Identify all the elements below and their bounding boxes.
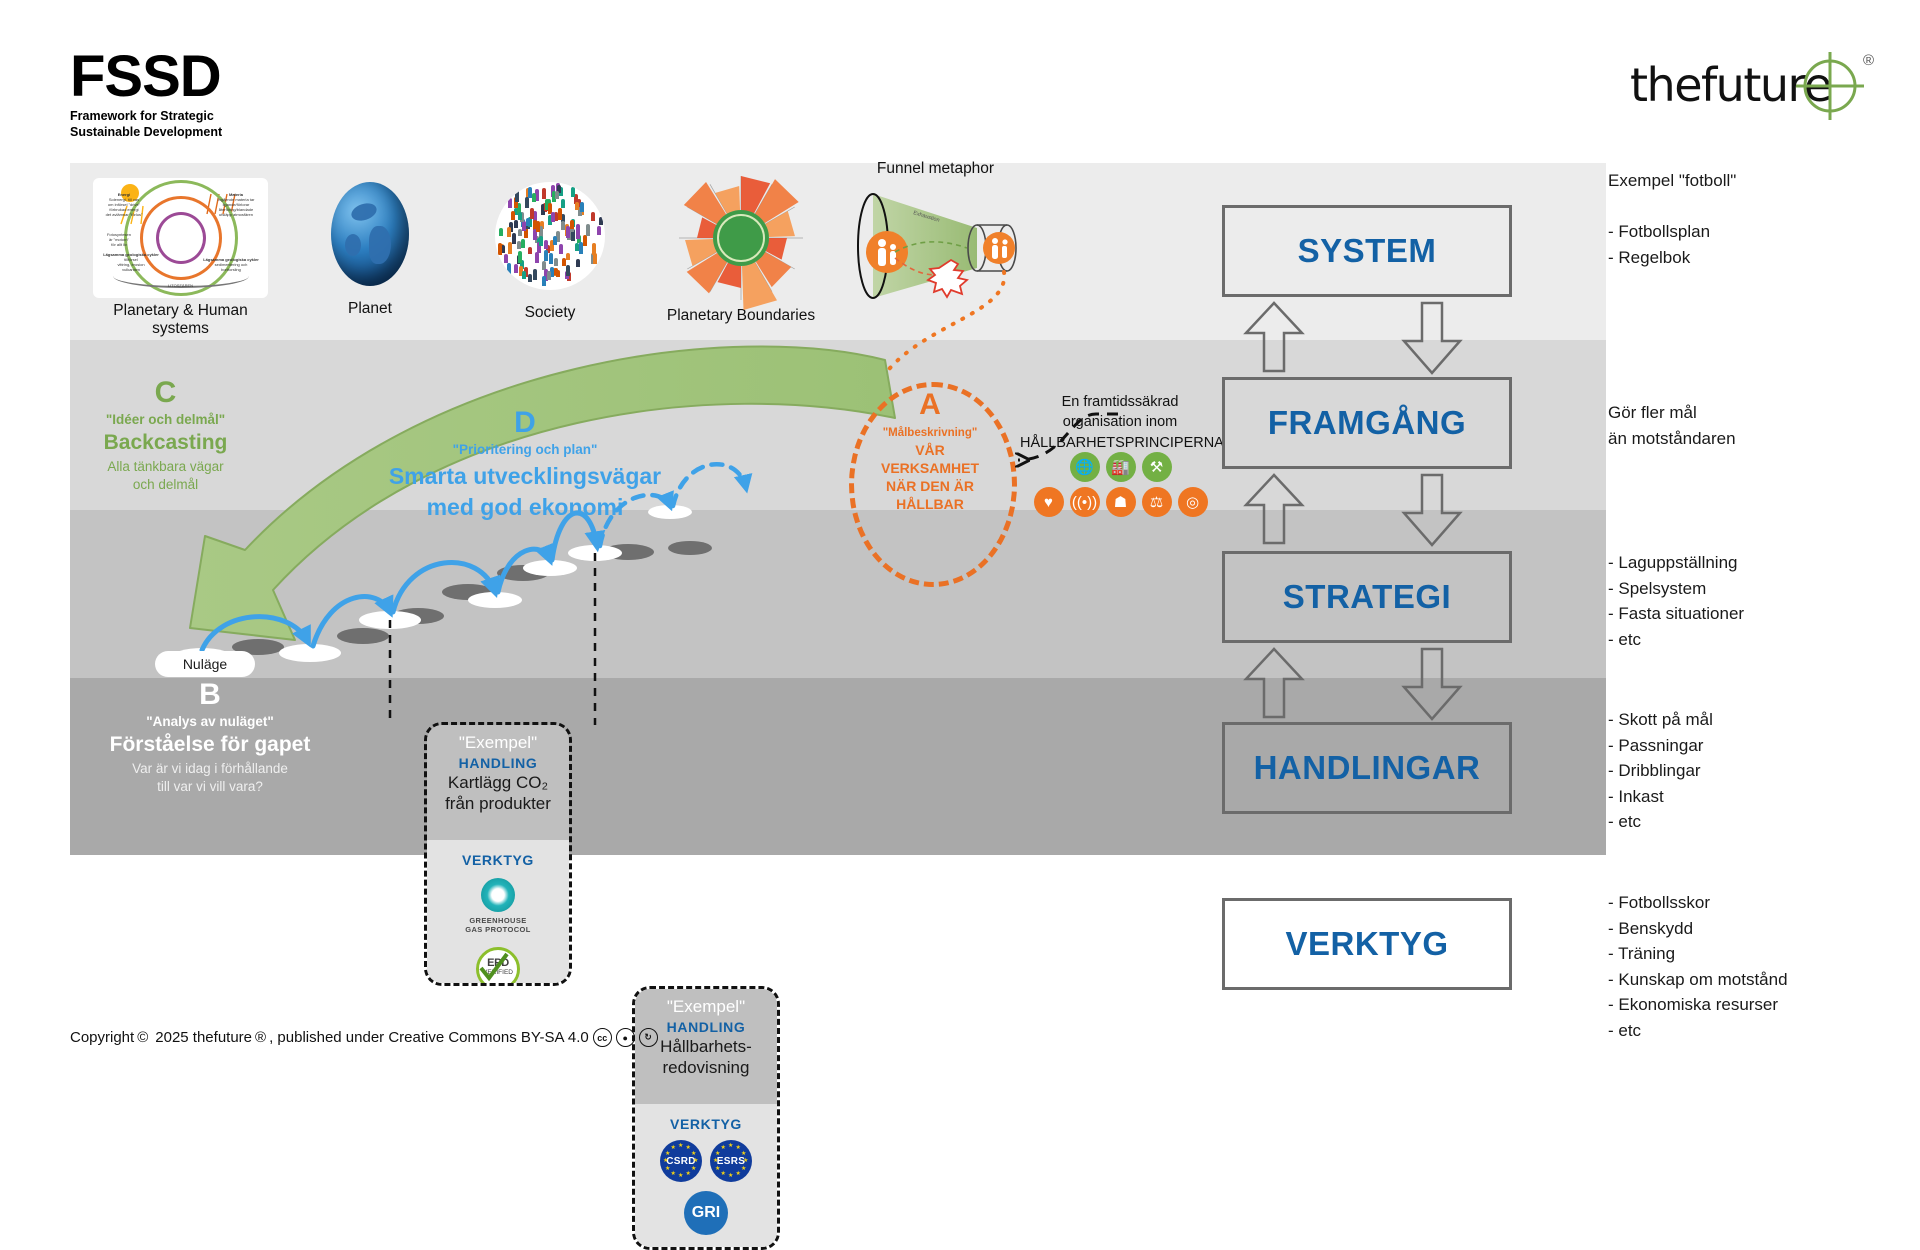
stage-box-framgang[interactable]: FRAMGÅNG <box>1222 377 1512 469</box>
sustainability-principles-icons: 🌐 🏭 ⚒ ♥ ((•)) ☗ ⚖ ◎ <box>1028 452 1213 517</box>
example-label: "Exempel" <box>635 997 777 1017</box>
stage-note-strategi: - Laguppställning - Spelsystem - Fasta s… <box>1608 550 1744 652</box>
stage-box-verktyg[interactable]: VERKTYG <box>1222 898 1512 990</box>
narrative-d: D "Prioritering och plan" Smarta utveckl… <box>375 408 675 523</box>
cc-sa-icon: ↻ <box>639 1028 658 1047</box>
narrative-b-quote: "Analys av nuläget" <box>100 714 320 729</box>
stage-box-handlingar[interactable]: HANDLINGAR <box>1222 722 1512 814</box>
stage-arrows-framgang-strategi <box>1222 471 1512 549</box>
crowd-of-people-icon <box>495 182 605 290</box>
competence-person-icon: ☗ <box>1106 487 1136 517</box>
stage-note-handlingar: - Skott på mål - Passningar - Dribblinga… <box>1608 707 1713 835</box>
planetary-boundaries-rosette <box>671 175 811 301</box>
fssd-subtitle: Framework for Strategic Sustainable Deve… <box>70 109 222 140</box>
cc-by-icon: ● <box>616 1028 635 1047</box>
narrative-b-letter: B <box>100 680 320 710</box>
copyright-owner: 2025 thefuture <box>155 1029 252 1046</box>
narrative-b-head: Förståelse för gapet <box>100 733 320 757</box>
stage-note-system: Exempel "fotboll" - Fotbollsplan - Regel… <box>1608 168 1736 270</box>
thefuture-target-icon <box>1630 50 1880 122</box>
thefuture-logo: thefuture ® <box>1630 50 1880 122</box>
top-item-planetary-human-systems: EnergiSolenergi, till vasom införsel "dr… <box>88 178 273 338</box>
license-text: , published under Creative Commons BY-SA… <box>269 1029 589 1046</box>
stage-label: SYSTEM <box>1298 232 1437 270</box>
tool-label: VERKTYG <box>635 1116 777 1132</box>
top-item-society: Society <box>460 182 640 322</box>
narrative-a-quote: "Målbeskrivning" <box>855 427 1005 439</box>
globe-extraction-icon: 🌐 <box>1070 452 1100 482</box>
example-kind: HANDLING <box>427 755 569 771</box>
arrow-down-icon <box>1404 303 1460 373</box>
copyright-footer: Copyright © 2025 thefuture ® , published… <box>70 1028 658 1047</box>
top-item-caption: Planetary Boundaries <box>636 307 846 325</box>
narrative-a: A "Målbeskrivning" VÅR VERKSAMHET NÄR DE… <box>855 388 1005 514</box>
narrative-c-letter: C <box>58 378 273 408</box>
core-ring <box>156 212 206 264</box>
planetary-human-systems-diagram: EnergiSolenergi, till vasom införsel "dr… <box>93 178 268 298</box>
stage-label: HANDLINGAR <box>1254 749 1481 787</box>
registered-mark: ® <box>1863 52 1874 69</box>
future-proof-note: En framtidssäkrad organisation inom HÅLL… <box>1020 392 1220 453</box>
fssd-title: FSSD <box>70 48 222 106</box>
tool-label: VERKTYG <box>427 852 569 868</box>
top-item-caption: Society <box>460 304 640 322</box>
lithosphere-label: LITOSFÄREN <box>93 283 268 288</box>
narrative-c-sub: Alla tänkbara vägar och delmål <box>58 458 273 493</box>
narrative-b: B "Analys av nuläget" Förståelse för gap… <box>100 680 320 795</box>
arrow-up-icon <box>1246 649 1302 717</box>
csrd-logo: CSRD★★★★★★★★★★★★ <box>660 1140 702 1182</box>
owner-registered-mark: ® <box>255 1029 266 1046</box>
gri-logo: GRI <box>684 1191 728 1235</box>
copyright-symbol: © <box>137 1029 148 1046</box>
narrative-d-quote: "Prioritering och plan" <box>375 442 675 457</box>
narrative-a-lines: VÅR VERKSAMHET NÄR DEN ÄR HÅLLBAR <box>855 442 1005 514</box>
stage-arrows-system-framgang <box>1222 299 1512 377</box>
funnel-title: Funnel metaphor <box>828 160 1043 178</box>
top-item-caption: Planet <box>290 300 450 318</box>
narrative-c: C "Idéer och delmål" Backcasting Alla tä… <box>58 378 273 493</box>
energy-label: EnergiSolenergi, till vasom införsel "dr… <box>101 192 147 217</box>
stage-note-verktyg: - Fotbollsskor - Benskydd - Träning - Ku… <box>1608 890 1788 1043</box>
arrow-down-icon <box>1404 475 1460 545</box>
ghg-caption: GREENHOUSE GAS PROTOCOL <box>427 916 569 935</box>
stage-label: FRAMGÅNG <box>1268 404 1466 442</box>
narrative-d-head: Smarta utvecklingsvägar med god ekonomi <box>375 461 675 523</box>
cc-icon: cc <box>593 1028 612 1047</box>
stage-box-strategi[interactable]: STRATEGI <box>1222 551 1512 643</box>
top-item-planet: Planet <box>290 182 450 318</box>
esrs-logo: ESRS★★★★★★★★★★★★ <box>710 1140 752 1182</box>
narrative-a-letter: A <box>855 388 1005 422</box>
example-label: "Exempel" <box>427 733 569 753</box>
safe-operating-space <box>713 210 769 266</box>
gri-caption: GRI <box>692 1204 720 1222</box>
fssd-logo: FSSD Framework for Strategic Sustainable… <box>70 48 222 140</box>
narrative-b-sub: Var är vi idag i förhållande till var vi… <box>100 760 320 795</box>
materia-label: MateriaIngående materia tarligande/förlo… <box>210 192 262 217</box>
greenhouse-gas-protocol-logo <box>481 878 515 912</box>
influence-signal-icon: ((•)) <box>1070 487 1100 517</box>
impartiality-scales-icon: ⚖ <box>1142 487 1172 517</box>
photosynthesis-label: Fotosyntesenär "motorn"för allt liv <box>99 232 139 247</box>
globe-icon <box>331 182 409 286</box>
narrative-c-quote: "Idéer och delmål" <box>58 412 273 427</box>
epd-verified-logo: EPD VERIFIED <box>476 947 520 986</box>
example-card-top: "Exempel" HANDLING Kartlägg CO₂ från pro… <box>427 725 569 840</box>
example-card-handling-reporting[interactable]: "Exempel" HANDLING Hållbarhets- redovisn… <box>632 986 780 1250</box>
example-card-handling-co2[interactable]: "Exempel" HANDLING Kartlägg CO₂ från pro… <box>424 722 572 986</box>
arrow-down-icon <box>1404 649 1460 719</box>
stage-label: VERKTYG <box>1285 925 1448 963</box>
arrow-up-icon <box>1246 475 1302 543</box>
example-desc: Kartlägg CO₂ från produkter <box>427 773 569 814</box>
example-card-tools: VERKTYG GREENHOUSE GAS PROTOCOL EPD VERI… <box>427 840 569 983</box>
top-item-planetary-boundaries: Planetary Boundaries <box>636 175 846 325</box>
narrative-d-letter: D <box>375 408 675 438</box>
copyright-word: Copyright <box>70 1029 134 1046</box>
stage-box-system[interactable]: SYSTEM <box>1222 205 1512 297</box>
current-state-pill: Nuläge <box>155 651 255 677</box>
stage-arrows-strategi-handlingar <box>1222 645 1512 723</box>
meaning-spiral-icon: ◎ <box>1178 487 1208 517</box>
top-item-caption: Planetary & Human systems <box>88 302 273 338</box>
stage-label: STRATEGI <box>1283 578 1451 616</box>
stone-1 <box>279 644 341 662</box>
narrative-c-head: Backcasting <box>58 431 273 455</box>
stage-note-framgang: Gör fler mål än motståndaren <box>1608 400 1736 451</box>
arrow-up-icon <box>1246 303 1302 371</box>
factory-production-icon: 🏭 <box>1106 452 1136 482</box>
example-card-tools: VERKTYG CSRD★★★★★★★★★★★★ ESRS★★★★★★★★★★★… <box>635 1104 777 1247</box>
crane-degradation-icon: ⚒ <box>1142 452 1172 482</box>
health-heartbeat-icon: ♥ <box>1034 487 1064 517</box>
